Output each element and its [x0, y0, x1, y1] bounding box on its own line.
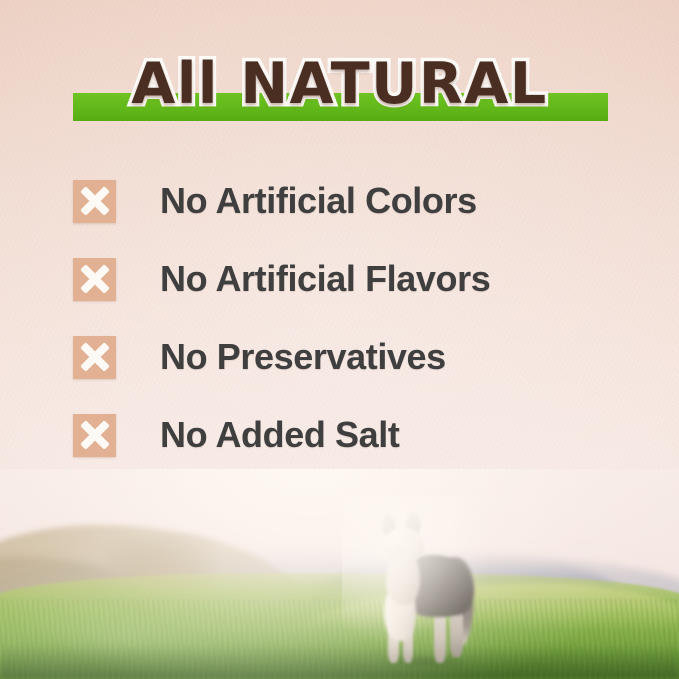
x-mark-icon [73, 180, 116, 223]
dog-snout [380, 543, 402, 560]
dog-in-meadow-photo [0, 469, 679, 679]
benefit-label: No Artificial Flavors [160, 258, 490, 300]
border-collie-dog [358, 507, 476, 667]
list-item: No Artificial Flavors [73, 256, 633, 302]
x-mark-icon [73, 414, 116, 457]
benefit-label: No Added Salt [160, 414, 399, 456]
benefit-label: No Preservatives [160, 336, 446, 378]
all-natural-product-poster: All NATURAL No Artificial Colors No Arti… [0, 0, 679, 679]
headline-banner: All NATURAL [0, 52, 679, 124]
meadow-foreground-shadow [0, 645, 679, 679]
list-item: No Preservatives [73, 334, 633, 380]
x-mark-icon [73, 336, 116, 379]
benefit-list: No Artificial Colors No Artificial Flavo… [73, 178, 633, 490]
list-item: No Added Salt [73, 412, 633, 458]
page-title: All NATURAL [0, 52, 679, 116]
dog-back-left-leg [434, 611, 446, 663]
list-item: No Artificial Colors [73, 178, 633, 224]
x-mark-icon [73, 258, 116, 301]
benefit-label: No Artificial Colors [160, 180, 477, 222]
